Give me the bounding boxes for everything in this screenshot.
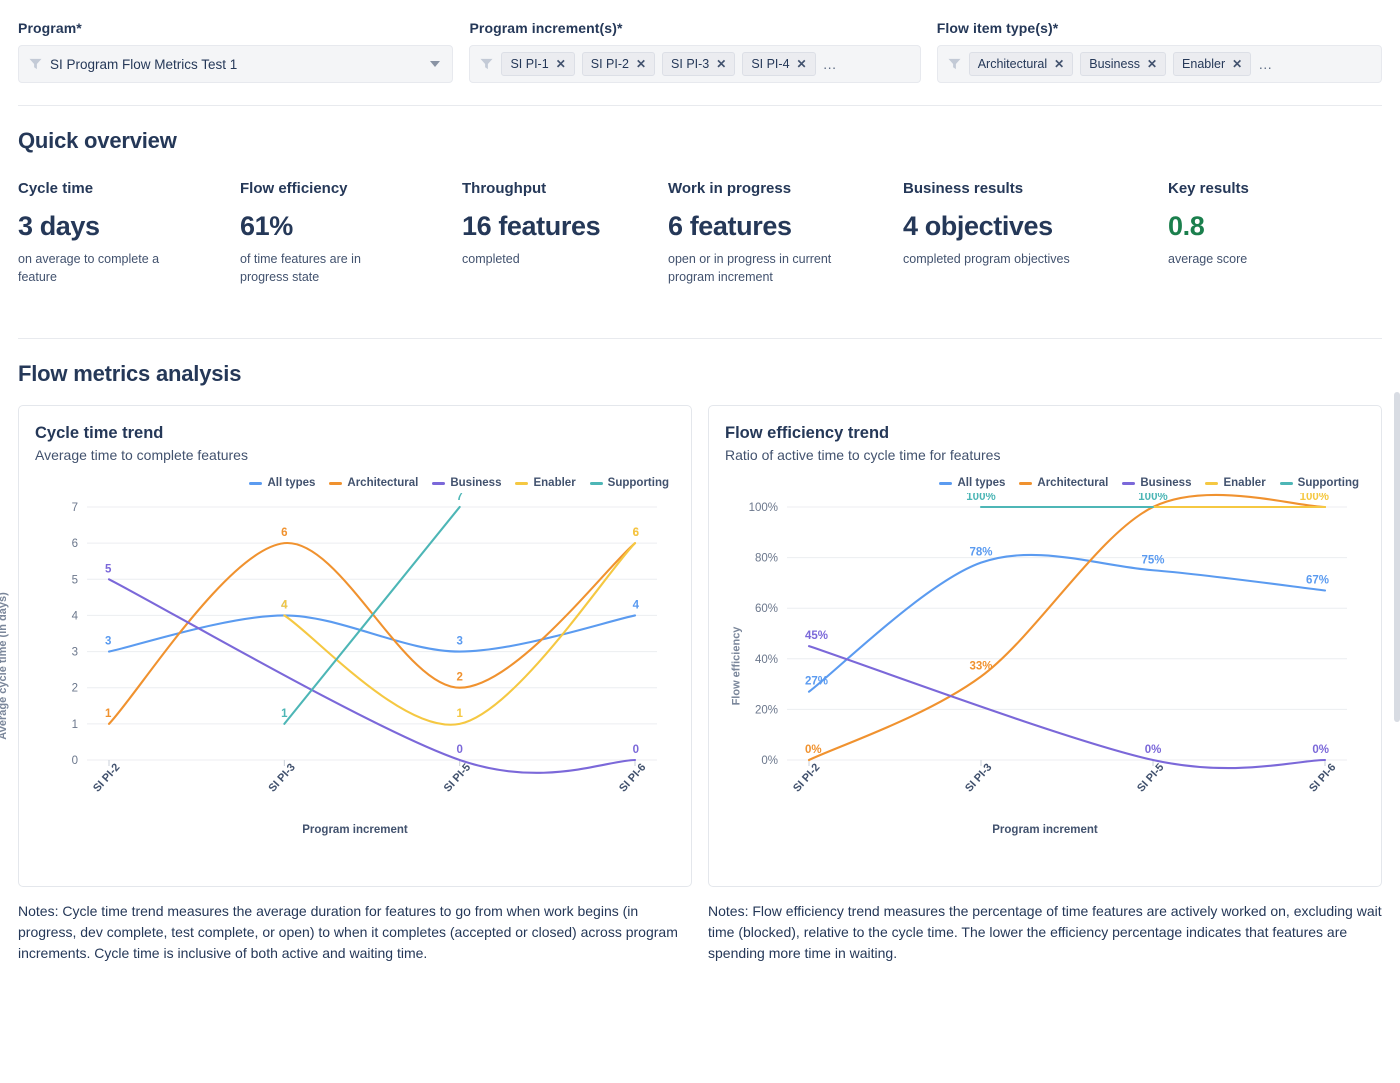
chip[interactable]: SI PI-4✕: [742, 52, 815, 76]
chip[interactable]: Architectural✕: [969, 52, 1074, 76]
chip-label: SI PI-4: [751, 57, 789, 71]
chart-legend: All types Architectural Business Enabler…: [725, 477, 1365, 489]
svg-text:33%: 33%: [969, 661, 992, 673]
svg-text:7: 7: [456, 493, 462, 503]
legend-item-business[interactable]: Business: [432, 477, 501, 489]
kpi-cycle-time: Cycle time 3 days on average to complete…: [18, 180, 240, 286]
kpi-sub: of time features are in progress state: [240, 250, 400, 286]
svg-text:100%: 100%: [1138, 493, 1167, 503]
filter-funnel-icon: [948, 58, 961, 70]
quick-overview-heading: Quick overview: [0, 106, 1400, 154]
filter-funnel-icon: [29, 58, 42, 70]
svg-text:0%: 0%: [761, 755, 778, 767]
chart-title: Flow efficiency trend: [725, 424, 1365, 443]
legend-swatch: [515, 482, 528, 485]
chart-y-axis-label: Average cycle time (in days): [0, 592, 9, 740]
chart-card-row: Cycle time trend Average time to complet…: [0, 387, 1400, 887]
chevron-down-icon[interactable]: [430, 61, 440, 67]
chip[interactable]: SI PI-3✕: [662, 52, 735, 76]
legend-label: Business: [450, 477, 501, 489]
kpi-title: Work in progress: [668, 180, 883, 197]
kpi-value: 4 objectives: [903, 211, 1148, 242]
svg-text:0: 0: [72, 755, 78, 767]
svg-text:0: 0: [456, 744, 462, 756]
chip[interactable]: Business✕: [1080, 52, 1166, 76]
chip-remove-icon[interactable]: ✕: [716, 58, 726, 70]
legend-item-supporting[interactable]: Supporting: [590, 477, 669, 489]
filter-program: Program* SI Program Flow Metrics Test 1: [18, 20, 453, 83]
svg-text:27%: 27%: [805, 676, 828, 688]
chip[interactable]: SI PI-2✕: [582, 52, 655, 76]
pi-multiselect[interactable]: SI PI-1✕ SI PI-2✕ SI PI-3✕ SI PI-4✕ …: [469, 45, 920, 83]
svg-text:4: 4: [72, 611, 79, 623]
chip-remove-icon[interactable]: ✕: [1232, 58, 1242, 70]
svg-text:5: 5: [72, 575, 78, 587]
cycle-time-trend-card: Cycle time trend Average time to complet…: [18, 405, 692, 887]
svg-text:1: 1: [72, 719, 78, 731]
filter-bar: Program* SI Program Flow Metrics Test 1 …: [0, 0, 1400, 83]
notes-row: Notes: Cycle time trend measures the ave…: [0, 887, 1400, 963]
svg-text:100%: 100%: [966, 493, 995, 503]
svg-text:4: 4: [633, 600, 640, 612]
kpi-sub: completed: [462, 250, 648, 268]
svg-text:3: 3: [72, 647, 78, 659]
kpi-throughput: Throughput 16 features completed: [462, 180, 668, 286]
chart-subtitle: Average time to complete features: [35, 447, 675, 463]
kpi-flow-efficiency: Flow efficiency 61% of time features are…: [240, 180, 462, 286]
kpi-sub: completed program objectives: [903, 250, 1148, 268]
legend-item-business[interactable]: Business: [1122, 477, 1191, 489]
chip-remove-icon[interactable]: ✕: [1147, 58, 1157, 70]
svg-text:60%: 60%: [755, 603, 778, 615]
chart-legend: All types Architectural Business Enabler…: [35, 477, 675, 489]
chip-label: Business: [1089, 57, 1140, 71]
svg-text:7: 7: [72, 502, 78, 514]
kpi-sub: open or in progress in current program i…: [668, 250, 848, 286]
legend-label: All types: [957, 477, 1005, 489]
legend-swatch: [590, 482, 603, 485]
flow-efficiency-trend-svg[interactable]: 0%20%40%60%80%100%SI PI-2SI PI-3SI PI-5S…: [725, 493, 1375, 838]
svg-text:1: 1: [105, 708, 112, 720]
svg-text:40%: 40%: [755, 654, 778, 666]
kpi-title: Business results: [903, 180, 1148, 197]
legend-item-supporting[interactable]: Supporting: [1280, 477, 1359, 489]
kpi-value: 0.8: [1168, 211, 1249, 242]
legend-swatch: [1205, 482, 1218, 485]
svg-text:2: 2: [456, 672, 462, 684]
svg-text:SI PI-5: SI PI-5: [1135, 762, 1166, 795]
svg-text:0%: 0%: [1312, 744, 1329, 756]
chip-label: SI PI-1: [510, 57, 548, 71]
legend-item-enabler[interactable]: Enabler: [515, 477, 575, 489]
legend-item-all-types[interactable]: All types: [249, 477, 315, 489]
svg-text:SI PI-5: SI PI-5: [442, 762, 473, 795]
kpi-title: Cycle time: [18, 180, 220, 197]
chip-label: Enabler: [1182, 57, 1225, 71]
svg-text:78%: 78%: [969, 547, 992, 559]
chip-label: Architectural: [978, 57, 1047, 71]
svg-text:5: 5: [105, 564, 112, 576]
legend-swatch: [1019, 482, 1032, 485]
kpi-value: 3 days: [18, 211, 220, 242]
legend-swatch: [329, 482, 342, 485]
svg-text:20%: 20%: [755, 705, 778, 717]
chart-x-axis-label: Program increment: [35, 824, 675, 836]
chip-label: SI PI-2: [591, 57, 629, 71]
program-select-value: SI Program Flow Metrics Test 1: [50, 57, 237, 72]
svg-text:2: 2: [72, 683, 78, 695]
legend-item-architectural[interactable]: Architectural: [329, 477, 418, 489]
svg-text:100%: 100%: [1300, 493, 1329, 503]
kpi-title: Key results: [1168, 180, 1249, 197]
svg-text:0%: 0%: [1145, 744, 1162, 756]
svg-text:45%: 45%: [805, 630, 828, 642]
kpi-value: 61%: [240, 211, 442, 242]
filter-flow-item-types: Flow item type(s)* Architectural✕ Busine…: [937, 20, 1382, 83]
svg-text:SI PI-6: SI PI-6: [1307, 762, 1338, 795]
chart-plot-area: Average cycle time (in days) 01234567SI …: [35, 493, 675, 838]
legend-label: Architectural: [1037, 477, 1108, 489]
kpi-sub: average score: [1168, 250, 1249, 268]
filter-program-label: Program*: [18, 20, 453, 36]
svg-text:6: 6: [281, 527, 287, 539]
legend-label: Architectural: [347, 477, 418, 489]
kpi-value: 6 features: [668, 211, 883, 242]
chip-label: SI PI-3: [671, 57, 709, 71]
chip[interactable]: SI PI-1✕: [501, 52, 574, 76]
filter-fit-label: Flow item type(s)*: [937, 20, 1382, 36]
chart-title: Cycle time trend: [35, 424, 675, 443]
cycle-time-trend-svg[interactable]: 01234567SI PI-2SI PI-3SI PI-5SI PI-63434…: [35, 493, 685, 838]
cycle-time-note: Notes: Cycle time trend measures the ave…: [18, 901, 692, 963]
svg-text:0%: 0%: [805, 744, 822, 756]
flow-efficiency-note: Notes: Flow efficiency trend measures th…: [708, 901, 1382, 963]
chart-plot-area: Flow efficiency 0%20%40%60%80%100%SI PI-…: [725, 493, 1365, 838]
fit-multiselect[interactable]: Architectural✕ Business✕ Enabler✕ …: [937, 45, 1382, 83]
chip[interactable]: Enabler✕: [1173, 52, 1251, 76]
legend-item-enabler[interactable]: Enabler: [1205, 477, 1265, 489]
chart-x-axis-label: Program increment: [725, 824, 1365, 836]
kpi-work-in-progress: Work in progress 6 features open or in p…: [668, 180, 903, 286]
svg-text:6: 6: [633, 527, 639, 539]
legend-label: Enabler: [533, 477, 575, 489]
kpi-row: Cycle time 3 days on average to complete…: [0, 154, 1400, 286]
svg-text:SI PI-2: SI PI-2: [91, 762, 122, 795]
legend-label: All types: [267, 477, 315, 489]
legend-label: Supporting: [1298, 477, 1359, 489]
filter-program-increments: Program increment(s)* SI PI-1✕ SI PI-2✕ …: [469, 20, 920, 83]
kpi-value: 16 features: [462, 211, 648, 242]
fit-overflow-indicator[interactable]: …: [1258, 56, 1273, 72]
legend-item-architectural[interactable]: Architectural: [1019, 477, 1108, 489]
legend-label: Supporting: [608, 477, 669, 489]
svg-text:80%: 80%: [755, 553, 778, 565]
legend-label: Enabler: [1223, 477, 1265, 489]
dashboard-page: Program* SI Program Flow Metrics Test 1 …: [0, 0, 1400, 1083]
legend-swatch: [249, 482, 262, 485]
svg-text:SI PI-2: SI PI-2: [791, 762, 822, 795]
pi-chip-list: SI PI-1✕ SI PI-2✕ SI PI-3✕ SI PI-4✕ …: [501, 52, 837, 76]
chart-subtitle: Ratio of active time to cycle time for f…: [725, 447, 1365, 463]
fit-chip-list: Architectural✕ Business✕ Enabler✕ …: [969, 52, 1274, 76]
flow-metrics-analysis-heading: Flow metrics analysis: [0, 339, 1400, 387]
kpi-sub: on average to complete a feature: [18, 250, 193, 286]
svg-text:100%: 100%: [749, 502, 778, 514]
flow-efficiency-trend-card: Flow efficiency trend Ratio of active ti…: [708, 405, 1382, 887]
legend-item-all-types[interactable]: All types: [939, 477, 1005, 489]
svg-text:SI PI-6: SI PI-6: [617, 762, 648, 795]
svg-text:SI PI-3: SI PI-3: [963, 762, 994, 795]
svg-text:75%: 75%: [1141, 555, 1164, 567]
program-select[interactable]: SI Program Flow Metrics Test 1: [18, 45, 453, 83]
filter-funnel-icon: [480, 58, 493, 70]
legend-swatch: [939, 482, 952, 485]
svg-text:4: 4: [281, 600, 288, 612]
svg-text:1: 1: [456, 708, 463, 720]
svg-text:3: 3: [105, 636, 111, 648]
svg-text:1: 1: [281, 708, 288, 720]
legend-swatch: [432, 482, 445, 485]
pi-overflow-indicator[interactable]: …: [823, 56, 838, 72]
kpi-title: Flow efficiency: [240, 180, 442, 197]
legend-swatch: [1280, 482, 1293, 485]
legend-label: Business: [1140, 477, 1191, 489]
chip-remove-icon[interactable]: ✕: [1054, 58, 1064, 70]
kpi-title: Throughput: [462, 180, 648, 197]
scrollbar-thumb[interactable]: [1394, 392, 1400, 722]
chip-remove-icon[interactable]: ✕: [556, 58, 566, 70]
kpi-business-results: Business results 4 objectives completed …: [903, 180, 1168, 286]
legend-swatch: [1122, 482, 1135, 485]
chip-remove-icon[interactable]: ✕: [636, 58, 646, 70]
svg-text:3: 3: [456, 636, 462, 648]
svg-text:6: 6: [72, 538, 78, 550]
svg-text:SI PI-3: SI PI-3: [266, 762, 297, 795]
svg-text:67%: 67%: [1306, 575, 1329, 587]
filter-pi-label: Program increment(s)*: [469, 20, 920, 36]
svg-text:0: 0: [633, 744, 639, 756]
kpi-key-results: Key results 0.8 average score: [1168, 180, 1269, 286]
chip-remove-icon[interactable]: ✕: [797, 58, 807, 70]
